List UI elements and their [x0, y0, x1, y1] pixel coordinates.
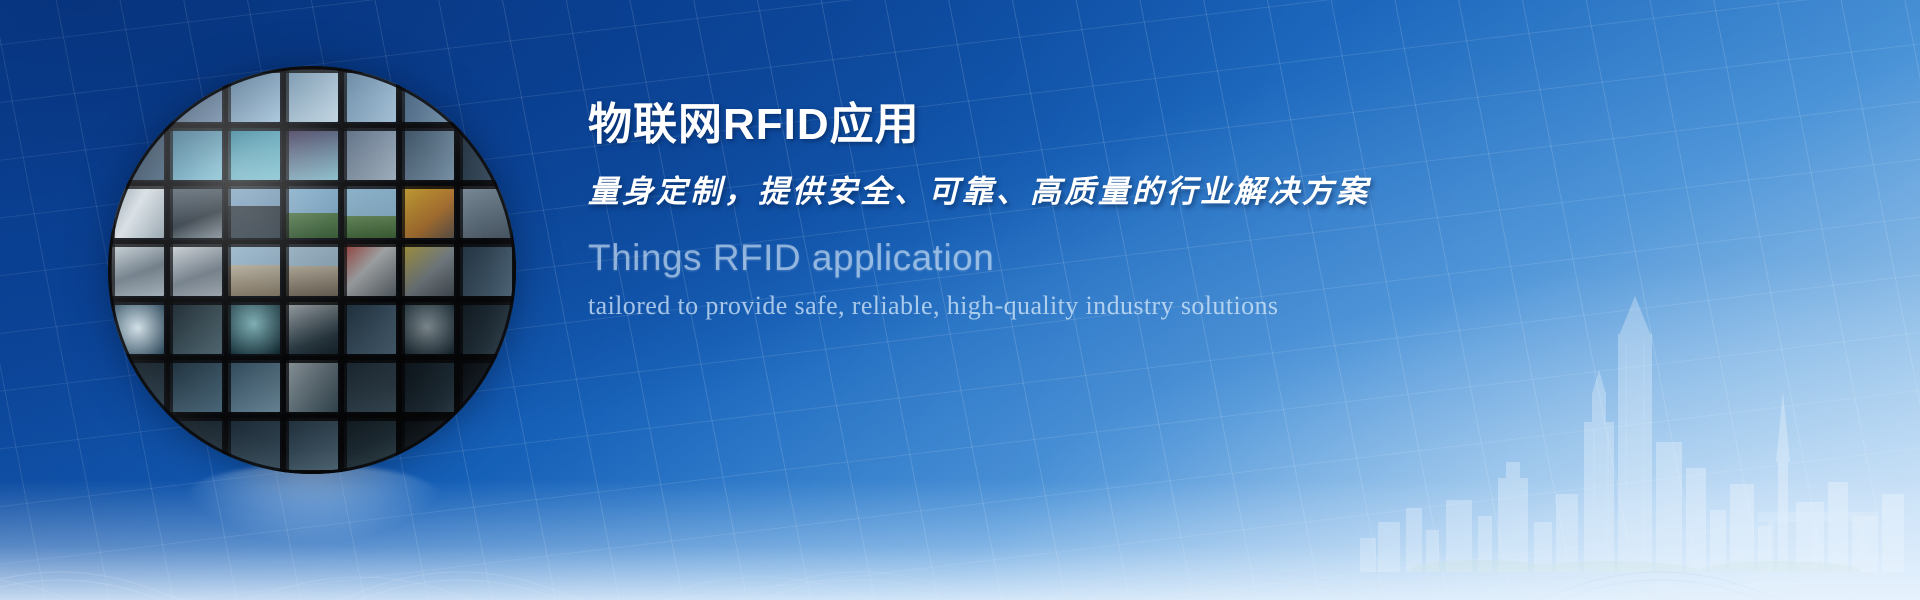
headline-chinese: 物联网RFID应用 — [588, 98, 1588, 152]
banner-copy: 物联网RFID应用 量身定制，提供安全、可靠、高质量的行业解决方案 Things… — [588, 98, 1588, 321]
globe-sphere — [108, 66, 516, 474]
globe-tile — [460, 70, 512, 122]
globe-graphic — [92, 48, 532, 548]
globe-reflection — [178, 464, 448, 542]
hero-banner: 物联网RFID应用 量身定制，提供安全、可靠、高质量的行业解决方案 Things… — [0, 0, 1920, 600]
headline-english: Things RFID application — [588, 237, 1588, 279]
globe-rim — [108, 66, 516, 474]
globe-tile — [112, 70, 164, 122]
globe-tile — [460, 418, 512, 470]
globe-tile — [112, 418, 164, 470]
subheadline-english: tailored to provide safe, reliable, high… — [588, 291, 1588, 321]
subheadline-chinese: 量身定制，提供安全、可靠、高质量的行业解决方案 — [588, 166, 1588, 211]
